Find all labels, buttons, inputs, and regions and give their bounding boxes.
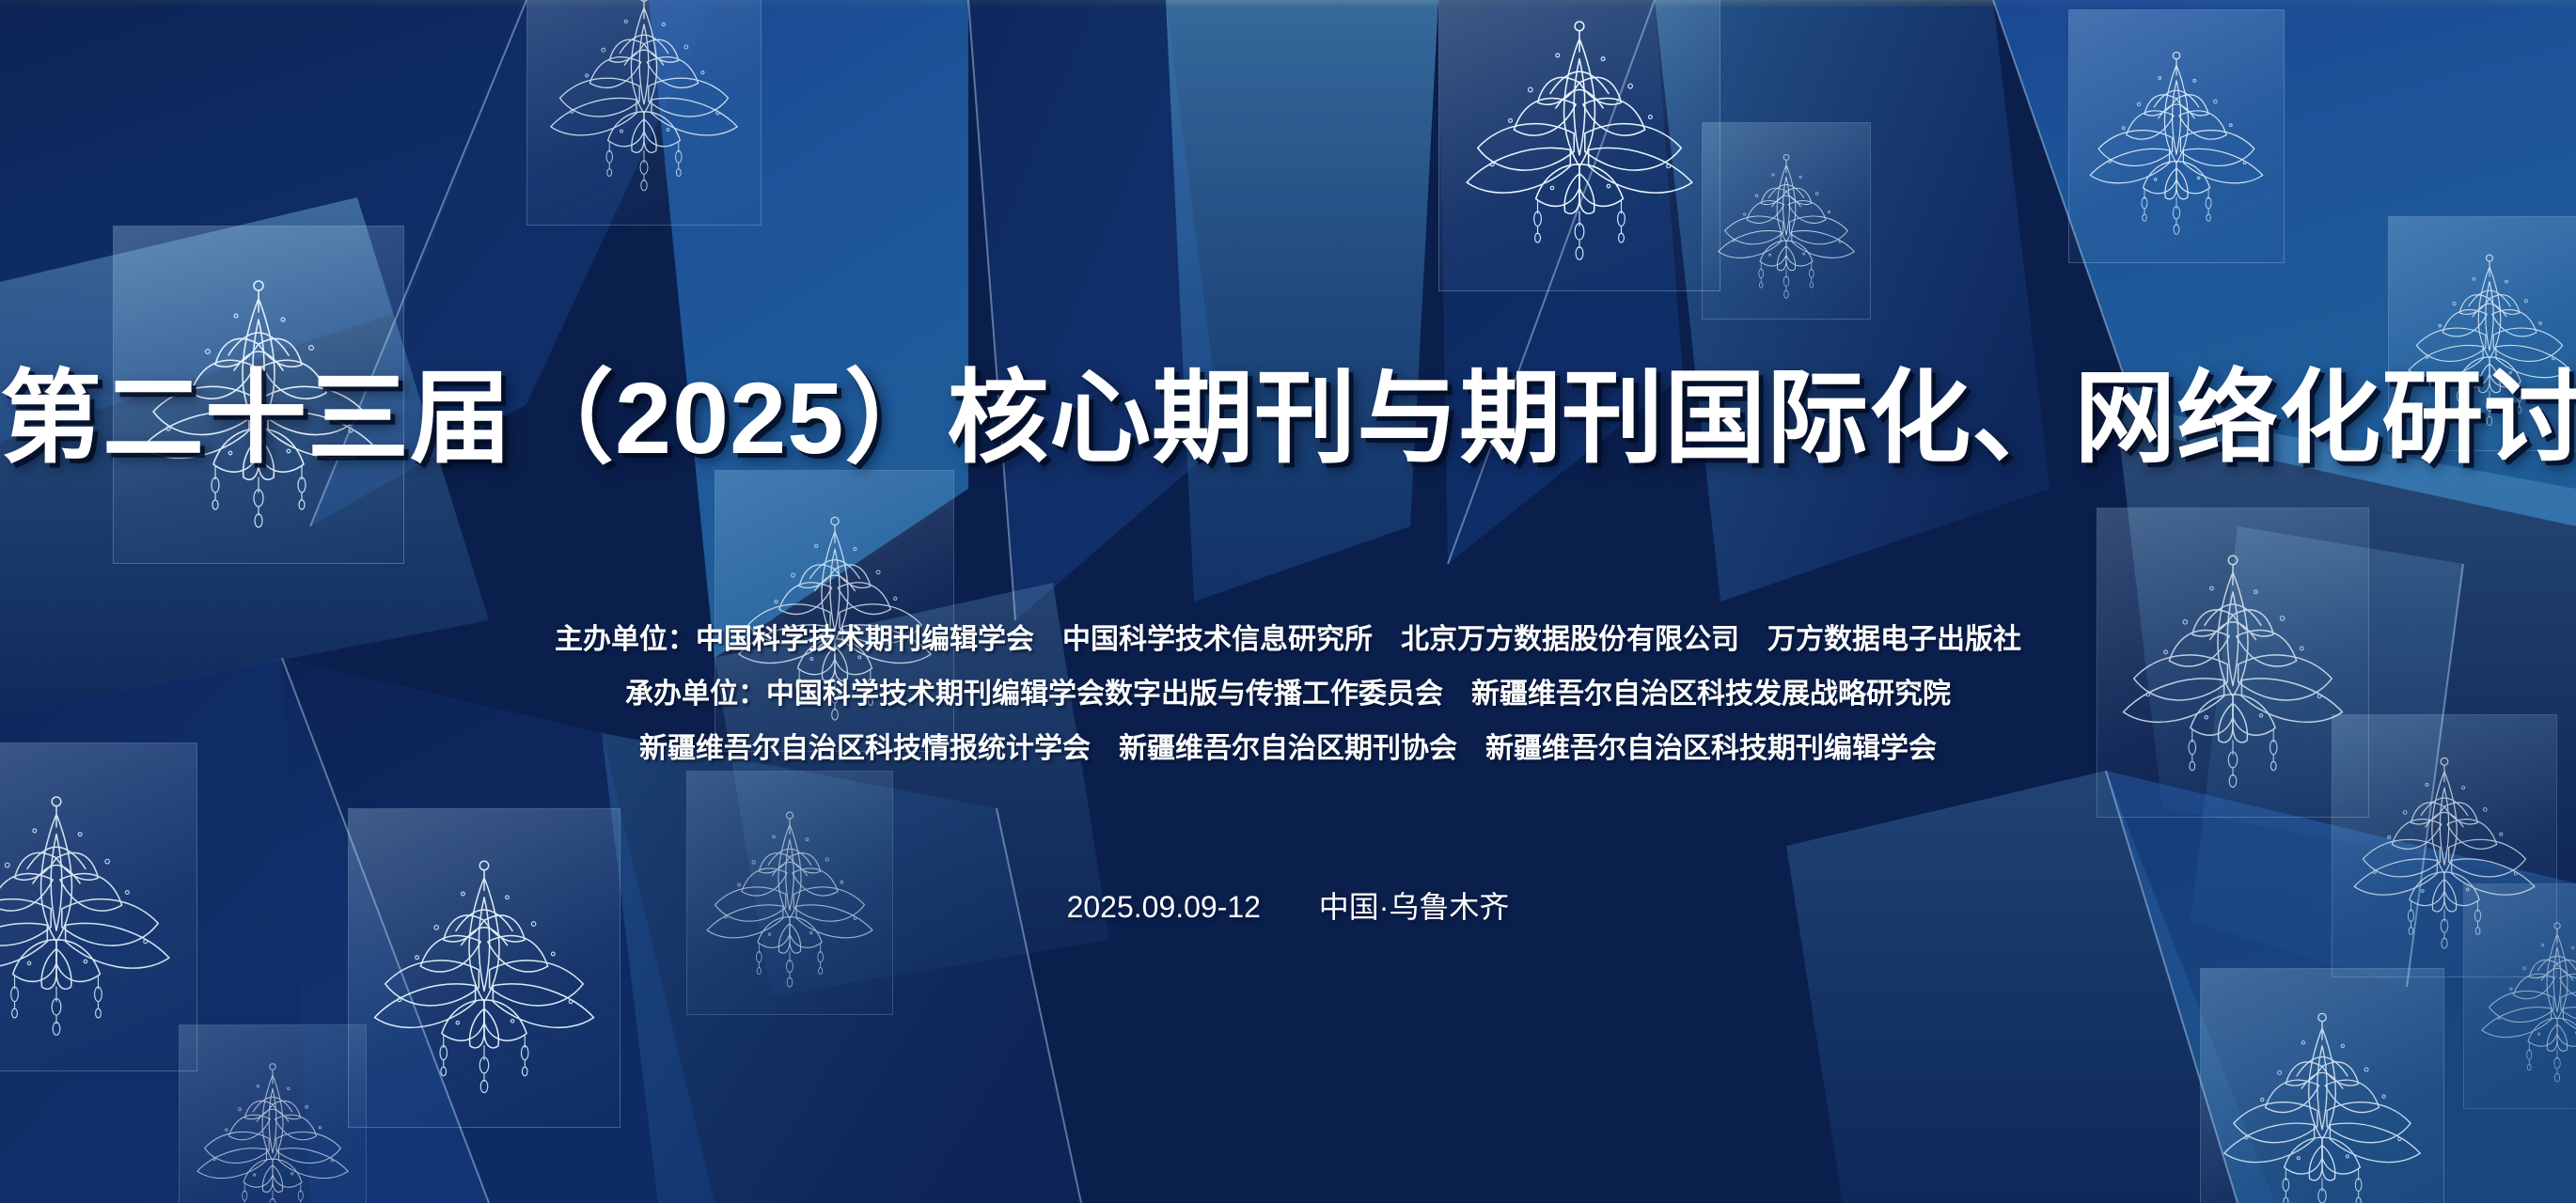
lotus-panel xyxy=(1438,0,1720,291)
lotus-panel xyxy=(2200,968,2444,1203)
lotus-panel xyxy=(1702,122,1871,320)
lotus-panel xyxy=(348,808,620,1128)
lotus-panel xyxy=(2068,9,2285,263)
event-date: 2025.09.09-12 xyxy=(1067,890,1261,924)
page-title: 第二十三届（2025）核心期刊与期刊国际化、网络化研讨会 xyxy=(0,362,2576,475)
event-location: 中国·乌鲁木齐 xyxy=(1319,890,1510,924)
organizer-line-co-host-2: 新疆维吾尔自治区科技情报统计学会 新疆维吾尔自治区期刊协会 新疆维吾尔自治区科技… xyxy=(0,725,2576,766)
lotus-panel xyxy=(2097,508,2369,818)
organizer-line-host: 主办单位：中国科学技术期刊编辑学会 中国科学技术信息研究所 北京万方数据股份有限… xyxy=(0,616,2576,657)
organizer-line-co-host-1: 承办单位：中国科学技术期刊编辑学会数字出版与传播工作委员会 新疆维吾尔自治区科技… xyxy=(0,670,2576,711)
event-datetime-location: 2025.09.09-12 中国·乌鲁木齐 xyxy=(0,883,2576,927)
lotus-panel xyxy=(179,1024,367,1203)
lotus-panel xyxy=(526,0,762,226)
conference-banner: 第二十三届（2025）核心期刊与期刊国际化、网络化研讨会 主办单位：中国科学技术… xyxy=(0,0,2576,1203)
